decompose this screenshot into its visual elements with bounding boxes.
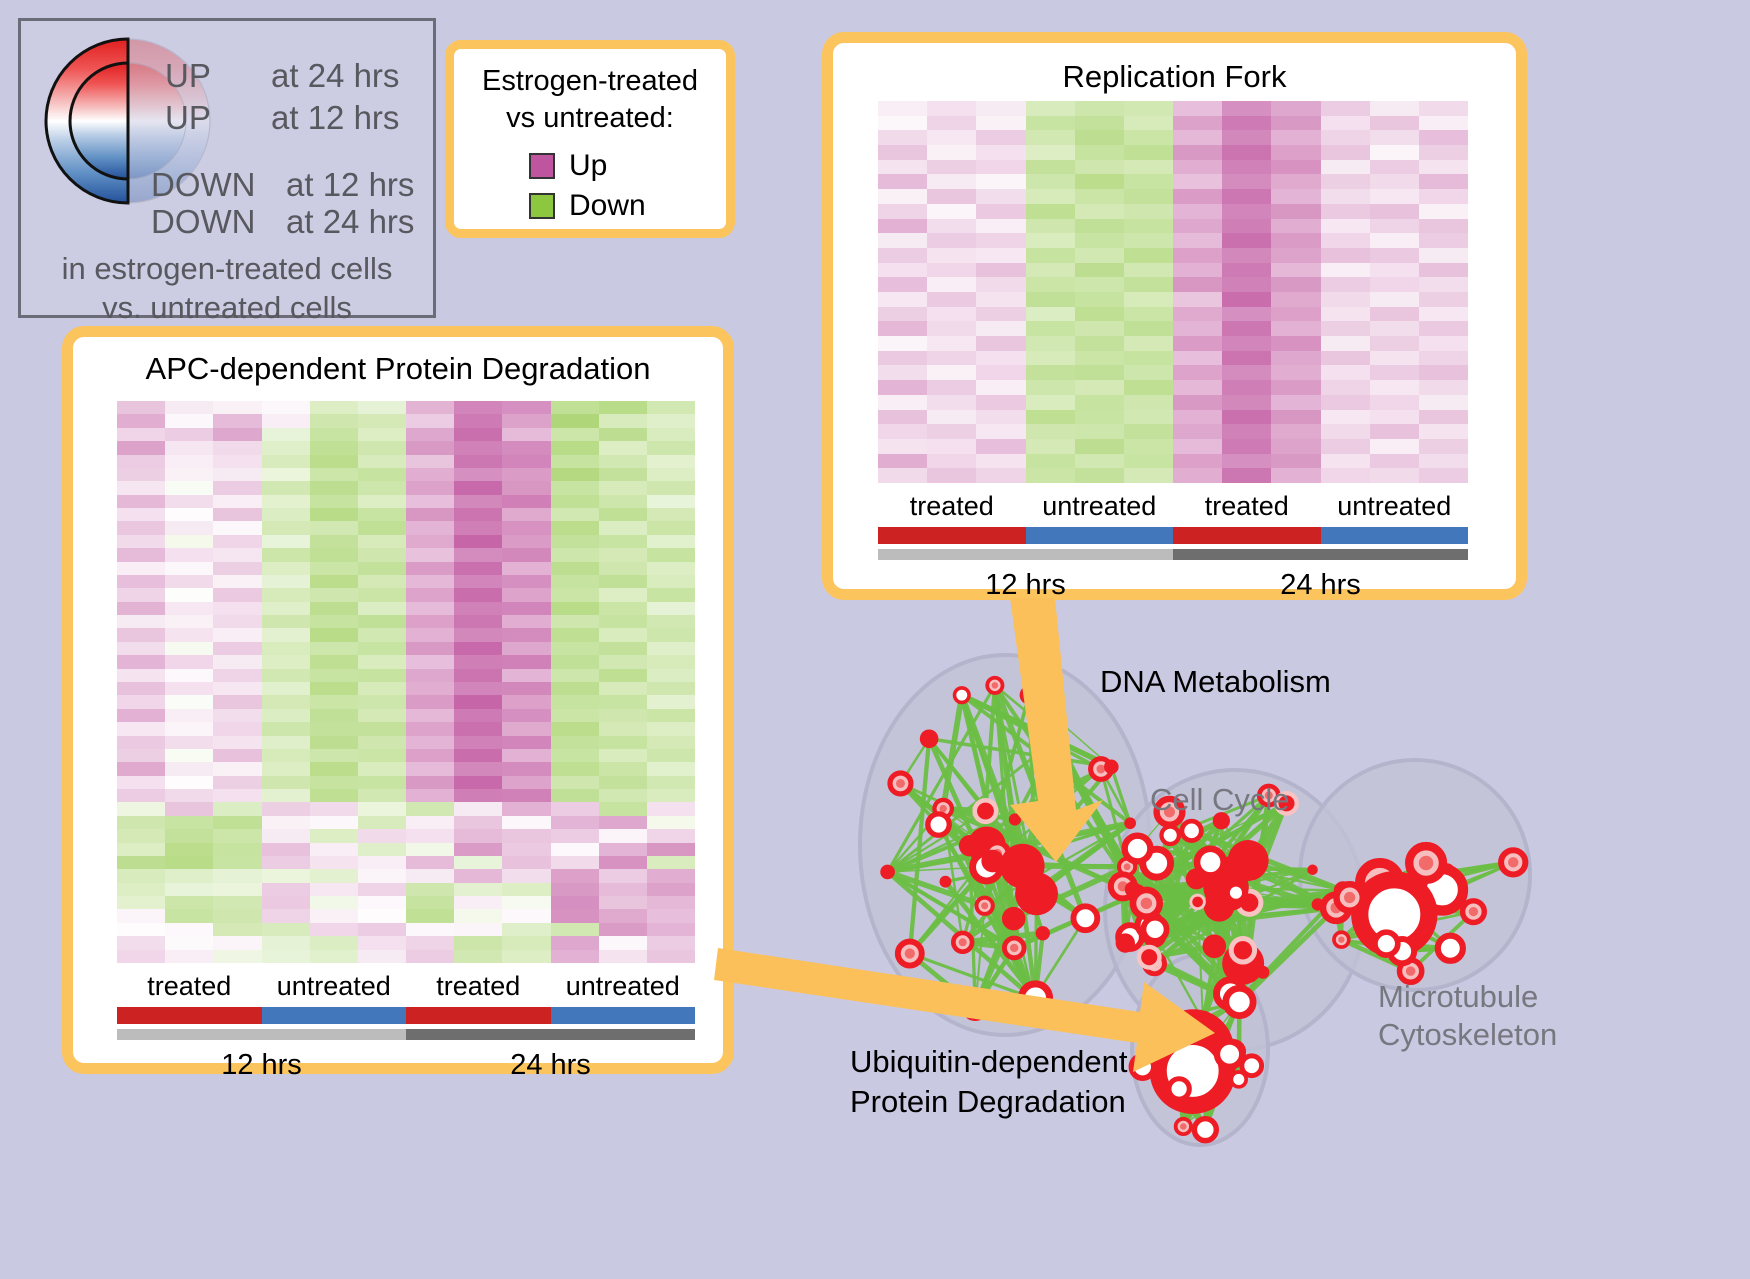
network-node[interactable] <box>1002 907 1026 931</box>
heatmap-cell <box>1124 410 1173 425</box>
heatmap-cell <box>551 762 599 775</box>
heatmap-cell <box>213 802 261 815</box>
key-footer-line2: vs. untreated cells <box>21 288 433 327</box>
heatmap-cell <box>976 233 1025 248</box>
network-node[interactable] <box>1186 868 1207 889</box>
heatmap-cell <box>165 909 213 922</box>
heatmap-cell <box>358 695 406 708</box>
heatmap-cell <box>976 130 1025 145</box>
heatmap-cell <box>1222 380 1271 395</box>
heatmap-cell <box>1124 160 1173 175</box>
heatmap-cell <box>599 869 647 882</box>
network-node[interactable] <box>1438 936 1463 961</box>
network-node[interactable] <box>1226 988 1253 1015</box>
key-footer: in estrogen-treated cells vs. untreated … <box>21 249 433 327</box>
heatmap-cell <box>551 642 599 655</box>
heatmap-cell <box>878 101 927 116</box>
heatmap-cell <box>647 816 695 829</box>
heatmap-cell <box>406 896 454 909</box>
heatmap-cell <box>1026 292 1075 307</box>
heatmap-cell <box>599 575 647 588</box>
heatmap-cell <box>1370 468 1419 483</box>
heatmap-cell <box>1370 248 1419 263</box>
network-node[interactable] <box>1141 1010 1165 1034</box>
heatmap-cell <box>878 233 927 248</box>
heatmap-cell <box>1370 174 1419 189</box>
heatmap-cell <box>599 588 647 601</box>
heatmap-cell <box>262 762 310 775</box>
key-state-up-12: UP <box>165 99 211 137</box>
heatmap-cell <box>262 428 310 441</box>
heatmap-cell <box>502 722 550 735</box>
heatmap-cell <box>310 749 358 762</box>
node-ring <box>1141 1010 1165 1034</box>
heatmap-cell <box>551 843 599 856</box>
sample-label: untreated <box>551 971 696 1002</box>
node-ring <box>1226 988 1253 1015</box>
node-core <box>1010 944 1018 952</box>
heatmap-cell <box>165 869 213 882</box>
network-node[interactable] <box>1036 926 1050 940</box>
heatmap-cell <box>1075 424 1124 439</box>
heatmap-cell <box>262 923 310 936</box>
heatmap-cell <box>551 481 599 494</box>
heatmap-cell <box>1419 321 1468 336</box>
heatmap-cell <box>647 428 695 441</box>
heatmap-cell <box>165 481 213 494</box>
treatment-segment <box>878 527 1026 544</box>
node-solid <box>1256 966 1269 979</box>
heatmap-cell <box>117 883 165 896</box>
heatmap-cell <box>310 829 358 842</box>
heatmap-cell <box>165 736 213 749</box>
network-node[interactable] <box>928 814 949 835</box>
heatmap-cell <box>262 896 310 909</box>
heatmap-cell <box>406 762 454 775</box>
heatmap-cell <box>878 321 927 336</box>
heatmap-cell <box>927 248 976 263</box>
heatmap-cell <box>262 455 310 468</box>
heatmap-cell <box>502 776 550 789</box>
heatmap-cell <box>1026 189 1075 204</box>
heatmap-cell <box>310 789 358 802</box>
heatmap-cell <box>927 468 976 483</box>
heatmap-cell <box>117 829 165 842</box>
heatmap-cell <box>117 548 165 561</box>
heatmap-cell <box>262 843 310 856</box>
network-node[interactable] <box>1375 932 1398 955</box>
cluster-label-microtubule-cytoskeleton: Microtubule Cytoskeleton <box>1378 978 1557 1054</box>
legend-item-up: Up <box>529 149 607 183</box>
heatmap-cell <box>502 414 550 427</box>
heatmap-cell <box>976 292 1025 307</box>
heatmap-cell <box>213 468 261 481</box>
heatmap-cell <box>358 628 406 641</box>
network-node[interactable] <box>1176 1119 1191 1134</box>
network-node[interactable] <box>1336 884 1362 910</box>
heatmap-cell <box>1173 307 1222 322</box>
heatmap-cell <box>1370 101 1419 116</box>
network-node[interactable] <box>1020 686 1039 705</box>
network-node[interactable] <box>1048 728 1067 747</box>
heatmap-cell <box>1124 307 1173 322</box>
network-node[interactable] <box>1242 1056 1262 1076</box>
heatmap-cell <box>213 695 261 708</box>
heatmap-cell <box>1124 145 1173 160</box>
heatmap-cell <box>599 789 647 802</box>
heatmap-cell <box>878 351 927 366</box>
heatmap-cell <box>310 816 358 829</box>
node-core <box>1180 1123 1187 1130</box>
heatmap-cell <box>599 481 647 494</box>
key-time-down-12: at 12 hrs <box>286 166 414 204</box>
network-node[interactable] <box>1189 894 1206 911</box>
network-node[interactable] <box>1104 760 1119 775</box>
heatmap-cell <box>406 655 454 668</box>
heatmap-cell <box>213 441 261 454</box>
heatmap-cell <box>1222 101 1271 116</box>
heatmap-cell <box>165 816 213 829</box>
heatmap-cell <box>117 481 165 494</box>
heatmap-cell <box>310 669 358 682</box>
heatmap-cell <box>599 829 647 842</box>
heatmap-cell <box>599 428 647 441</box>
pathway-network-graph <box>790 610 1590 1279</box>
heatmap-cell <box>117 669 165 682</box>
heatmap-cell <box>599 802 647 815</box>
heatmap-cell <box>551 695 599 708</box>
heatmap-cell <box>213 414 261 427</box>
heatmap-cell <box>647 642 695 655</box>
heatmap-cell <box>262 468 310 481</box>
heatmap-cell <box>358 709 406 722</box>
key-state-up-24: UP <box>165 57 211 95</box>
network-node[interactable] <box>1409 846 1443 880</box>
heatmap-cell <box>1173 145 1222 160</box>
timepoint-labels-apc: 12 hrs 24 hrs <box>117 1049 695 1082</box>
network-node[interactable] <box>953 933 972 952</box>
heatmap-cell <box>1173 351 1222 366</box>
heatmap-cell <box>878 395 927 410</box>
heatmap-cell <box>213 588 261 601</box>
heatmap-cell <box>454 562 502 575</box>
heatmap-cell <box>454 575 502 588</box>
network-node[interactable] <box>1169 1010 1184 1025</box>
heatmap-cell <box>1075 336 1124 351</box>
heatmap-cell <box>1271 219 1320 234</box>
heatmap-cell <box>213 642 261 655</box>
heatmap-cell <box>551 869 599 882</box>
heatmap-cell <box>1271 204 1320 219</box>
heatmap-cell <box>878 336 927 351</box>
cluster-label-dna-metabolism: DNA Metabolism <box>1100 664 1331 700</box>
node-solid <box>1000 844 1045 889</box>
network-node[interactable] <box>1137 945 1162 970</box>
heatmap-cell <box>1321 116 1370 131</box>
network-node[interactable] <box>898 942 922 966</box>
heatmap-cell <box>117 749 165 762</box>
network-node[interactable] <box>1009 813 1021 825</box>
heatmap-cell <box>358 455 406 468</box>
heatmap-cell <box>1075 439 1124 454</box>
heatmap-cell <box>1370 219 1419 234</box>
network-node[interactable] <box>1000 844 1045 889</box>
heatmap-cell <box>310 481 358 494</box>
heatmap-cell <box>551 923 599 936</box>
network-node[interactable] <box>1228 885 1244 901</box>
heatmap-cell <box>1419 233 1468 248</box>
network-node[interactable] <box>890 773 911 794</box>
network-node[interactable] <box>1073 906 1097 930</box>
heatmap-cell <box>213 936 261 949</box>
heatmap-cell <box>647 936 695 949</box>
heatmap-cell <box>213 709 261 722</box>
network-node[interactable] <box>1125 881 1141 897</box>
heatmap-cell <box>1124 321 1173 336</box>
heatmap-cell <box>599 468 647 481</box>
heatmap-cell <box>406 923 454 936</box>
heatmap-cell <box>878 380 927 395</box>
heatmap-cell <box>1075 233 1124 248</box>
network-node[interactable] <box>1334 932 1349 947</box>
heatmap-cell <box>262 575 310 588</box>
heatmap-cell <box>454 468 502 481</box>
heatmap-cell <box>1321 410 1370 425</box>
heatmap-cell <box>262 869 310 882</box>
heatmap-cell <box>647 762 695 775</box>
heatmap-cell <box>1222 424 1271 439</box>
heatmap-cell <box>1419 101 1468 116</box>
heatmap-cell <box>878 160 927 175</box>
heatmap-cell <box>502 749 550 762</box>
network-node[interactable] <box>1463 901 1485 923</box>
heatmap-cell <box>1026 204 1075 219</box>
heatmap-cell <box>1026 395 1075 410</box>
node-ring <box>1228 885 1244 901</box>
node-solid <box>1104 760 1119 775</box>
heatmap-cell <box>502 428 550 441</box>
heatmap-cell <box>454 776 502 789</box>
heatmap-cell <box>502 883 550 896</box>
heatmap-cell <box>262 669 310 682</box>
heatmap-cell <box>1419 424 1468 439</box>
heatmap-cell <box>117 508 165 521</box>
heatmap-cell <box>117 950 165 963</box>
node-solid <box>1307 864 1318 875</box>
heatmap-cell <box>927 410 976 425</box>
heatmap-cell <box>1222 145 1271 160</box>
heatmap-cell <box>1370 263 1419 278</box>
heatmap-cell <box>878 248 927 263</box>
heatmap-cell <box>502 843 550 856</box>
network-node[interactable] <box>1501 850 1525 874</box>
heatmap-cell <box>551 521 599 534</box>
heatmap-cell <box>117 856 165 869</box>
heatmap-cell <box>878 424 927 439</box>
network-node[interactable] <box>1125 836 1151 862</box>
heatmap-cell <box>406 856 454 869</box>
heatmap-cell <box>551 936 599 949</box>
network-node[interactable] <box>1194 1119 1216 1141</box>
heatmap-cell <box>310 401 358 414</box>
heatmap-cell <box>976 174 1025 189</box>
heatmap-cell <box>262 481 310 494</box>
heatmap-cell <box>213 776 261 789</box>
heatmap-cell <box>310 428 358 441</box>
treatment-color-bar-rep <box>878 527 1468 544</box>
network-node[interactable] <box>1182 821 1201 840</box>
treatment-color-bar-apc <box>117 1007 695 1024</box>
heatmap-cell <box>976 145 1025 160</box>
network-node[interactable] <box>1256 966 1269 979</box>
network-node[interactable] <box>920 729 939 748</box>
network-node[interactable] <box>940 876 952 888</box>
heatmap-cell <box>976 219 1025 234</box>
heatmap-cell <box>599 414 647 427</box>
heatmap-cell <box>262 548 310 561</box>
heatmap-cell <box>551 575 599 588</box>
heatmap-cell <box>1321 204 1370 219</box>
heatmap-cell <box>551 883 599 896</box>
heatmap-cell <box>1075 410 1124 425</box>
heatmap-cell <box>1173 174 1222 189</box>
node-solid <box>1009 813 1021 825</box>
heatmap-cell <box>454 602 502 615</box>
heatmap-cell <box>878 145 927 160</box>
heatmap-cell <box>117 575 165 588</box>
heatmap-cell <box>647 455 695 468</box>
heatmap-cell <box>358 615 406 628</box>
node-ring <box>1143 918 1166 941</box>
heatmap-cell <box>310 495 358 508</box>
heatmap-cell <box>647 481 695 494</box>
heatmap-cell <box>502 495 550 508</box>
heatmap-cell <box>976 204 1025 219</box>
heatmap-cell <box>262 401 310 414</box>
heatmap-cell <box>1173 439 1222 454</box>
heatmap-cell <box>1271 277 1320 292</box>
heatmap-cell <box>647 896 695 909</box>
network-node[interactable] <box>1131 1056 1153 1078</box>
heatmap-cell <box>213 481 261 494</box>
heatmap-cell <box>599 562 647 575</box>
heatmap-cell <box>1271 130 1320 145</box>
network-node[interactable] <box>1228 840 1269 881</box>
network-node[interactable] <box>1124 817 1136 829</box>
timepoint-color-bar-rep <box>878 549 1468 560</box>
heatmap-cell <box>310 869 358 882</box>
heatmap-cell <box>878 292 927 307</box>
network-node[interactable] <box>977 898 993 914</box>
node-ring <box>1242 1056 1262 1076</box>
network-node[interactable] <box>1161 827 1178 844</box>
heatmap-cell <box>406 575 454 588</box>
heatmap-cell <box>1321 263 1370 278</box>
network-node[interactable] <box>1229 936 1258 965</box>
heatmap-cell <box>310 722 358 735</box>
heatmap-cell <box>117 762 165 775</box>
network-node[interactable] <box>1169 1079 1189 1099</box>
network-node[interactable] <box>1021 984 1049 1012</box>
heatmap-cell <box>599 655 647 668</box>
heatmap-cell <box>551 856 599 869</box>
network-node[interactable] <box>880 865 895 880</box>
heatmap-cell <box>1370 410 1419 425</box>
heatmap-cell <box>1026 336 1075 351</box>
heatmap-cell <box>1173 454 1222 469</box>
network-node[interactable] <box>1143 918 1166 941</box>
heatmap-cell <box>599 495 647 508</box>
heatmap-cell <box>1370 116 1419 131</box>
heatmap-cell <box>1419 380 1468 395</box>
heatmap-cell <box>117 682 165 695</box>
heatmap-cell <box>1124 189 1173 204</box>
heatmap-cell <box>310 695 358 708</box>
heatmap-cell <box>647 575 695 588</box>
heatmap-cell <box>647 950 695 963</box>
heatmap-cell <box>1124 365 1173 380</box>
heatmap-cell <box>647 414 695 427</box>
network-node[interactable] <box>955 688 970 703</box>
heatmap-cell <box>502 856 550 869</box>
heatmap-cell <box>406 816 454 829</box>
heatmap-cell <box>310 628 358 641</box>
heatmap-cell <box>1370 365 1419 380</box>
heatmap-cell <box>599 695 647 708</box>
node-core <box>1508 857 1518 867</box>
network-node[interactable] <box>1217 1042 1242 1067</box>
heatmap-cell <box>117 843 165 856</box>
network-node[interactable] <box>972 798 998 824</box>
heatmap-cell <box>358 816 406 829</box>
heatmap-cell <box>599 896 647 909</box>
node-core <box>1406 966 1416 976</box>
network-node[interactable] <box>1307 864 1318 875</box>
heatmap-cell <box>1075 145 1124 160</box>
heatmap-cell <box>213 521 261 534</box>
network-node[interactable] <box>964 996 986 1018</box>
heatmap-cell <box>117 936 165 949</box>
heatmap-cell <box>454 628 502 641</box>
heatmap-cell <box>406 789 454 802</box>
heatmap-cell <box>927 101 976 116</box>
node-solid <box>1192 897 1203 908</box>
node-ring <box>1375 932 1398 955</box>
heatmap-cell <box>1419 145 1468 160</box>
heatmap-cell <box>1026 130 1075 145</box>
heatmap-cell <box>647 495 695 508</box>
heatmap-cell <box>117 602 165 615</box>
network-node[interactable] <box>1116 933 1135 952</box>
heatmap-cell <box>1124 380 1173 395</box>
heatmap-cell <box>1222 174 1271 189</box>
heatmap-cell <box>976 410 1025 425</box>
heatmap-replication-fork <box>878 101 1468 483</box>
heatmap-cell <box>454 856 502 869</box>
sample-label: treated <box>117 971 262 1002</box>
heatmap-cell <box>927 174 976 189</box>
heatmap-cell <box>647 869 695 882</box>
heatmap-cell <box>358 428 406 441</box>
heatmap-cell <box>1026 263 1075 278</box>
network-node[interactable] <box>1203 935 1227 959</box>
heatmap-cell <box>406 414 454 427</box>
heatmap-cell <box>599 535 647 548</box>
heatmap-cell <box>117 816 165 829</box>
heatmap-cell <box>1370 233 1419 248</box>
network-node[interactable] <box>1004 938 1024 958</box>
network-node[interactable] <box>987 678 1002 693</box>
